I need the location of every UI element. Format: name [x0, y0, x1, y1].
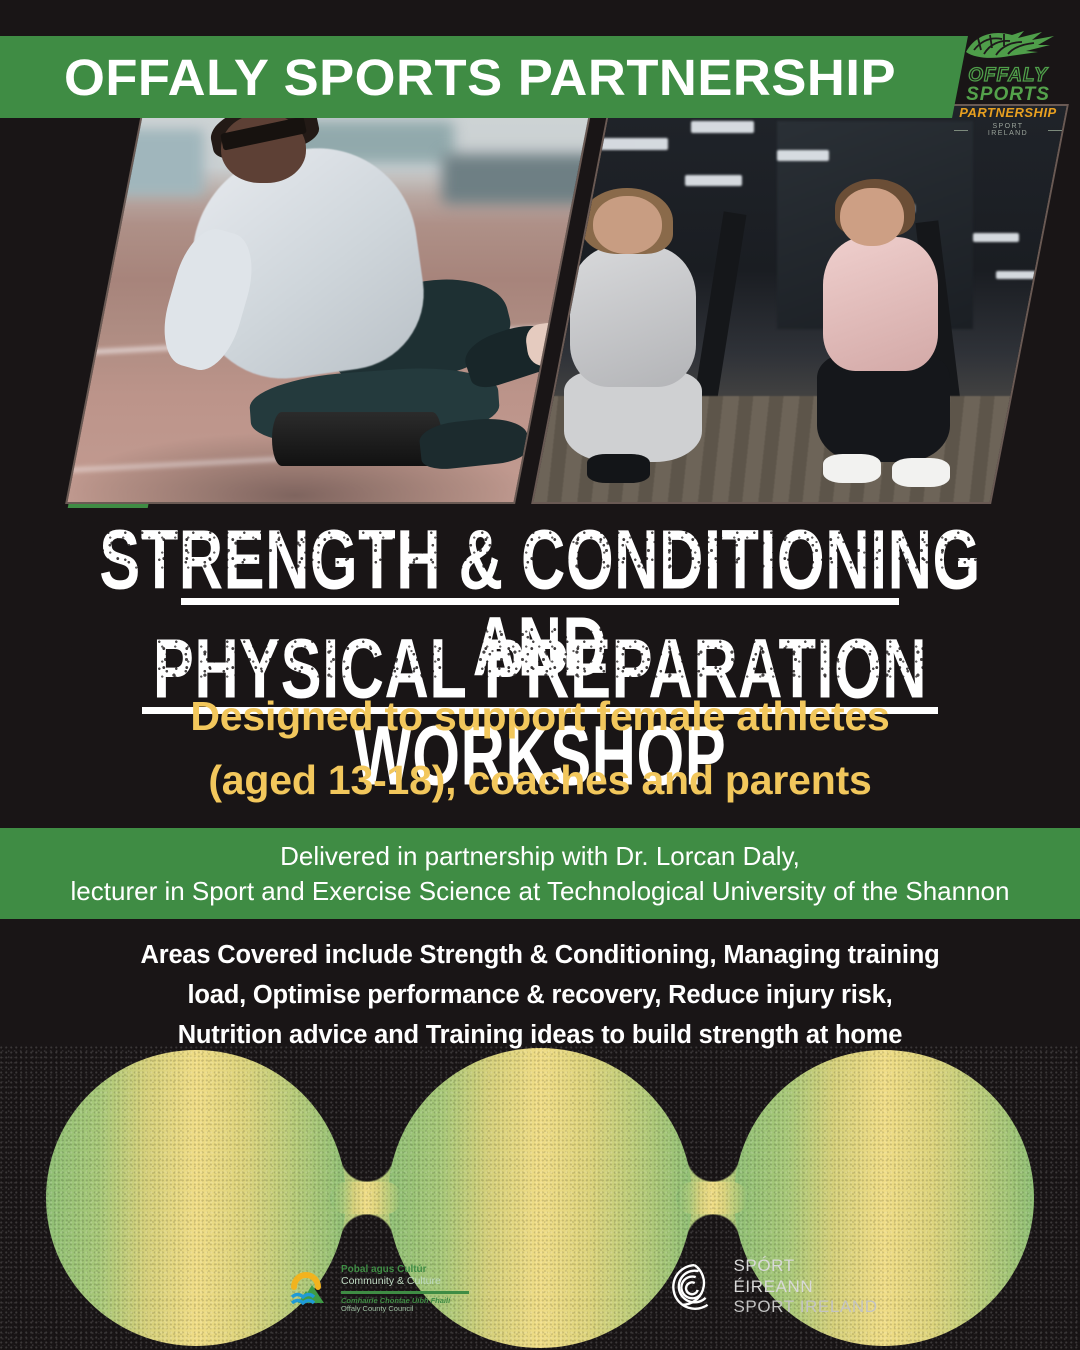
council-mark-icon	[288, 1267, 332, 1311]
areas-line-2: load, Optimise performance & recovery, R…	[0, 975, 1080, 1015]
poster-canvas: OFFALY SPORTS PARTNERSHIP OFFALY SPORTS	[0, 0, 1080, 1350]
photo-strip	[0, 104, 1080, 504]
logo-text-partnership: PARTNERSHIP	[954, 105, 1062, 120]
logo-swoosh-icon	[954, 26, 1062, 66]
sport-ireland-text-irish: SPÓRT ÉIREANN	[733, 1256, 878, 1297]
subtitle-line-2: (aged 13-18), coaches and parents	[0, 748, 1080, 812]
partnership-line-1: Delivered in partnership with Dr. Lorcan…	[280, 839, 800, 874]
photo-gym-squats	[531, 104, 1069, 504]
subtitle-line-1: Designed to support female athletes	[0, 684, 1080, 748]
council-text-irish-1: Pobal agus Cultúr	[341, 1264, 469, 1275]
workshop-audience-subtitle: Designed to support female athletes (age…	[0, 684, 1080, 812]
photo-foam-rolling	[65, 104, 593, 504]
sport-ireland-text-english: SPORT IRELAND	[733, 1297, 878, 1318]
areas-line-1: Areas Covered include Strength & Conditi…	[0, 935, 1080, 975]
sport-ireland-logo: SPÓRT ÉIREANN SPORT IRELAND	[668, 1256, 878, 1318]
logo-text-offaly: OFFALY	[954, 66, 1062, 85]
partnership-band: Delivered in partnership with Dr. Lorcan…	[0, 828, 1080, 919]
council-sun-hill-water-icon	[288, 1267, 332, 1311]
areas-covered: Areas Covered include Strength & Conditi…	[0, 935, 1080, 1055]
offaly-county-council-logo: Pobal agus Cultúr Community & Culture Co…	[288, 1252, 488, 1326]
logo-text-sport-ireland: SPORT IRELAND	[954, 123, 1062, 137]
offaly-sports-partnership-logo: OFFALY SPORTS PARTNERSHIP SPORT IRELAND	[954, 26, 1062, 136]
swoosh-graphic-icon	[954, 26, 1062, 66]
blob-shape-graphic	[0, 1046, 1080, 1350]
session-blobs	[0, 1046, 1080, 1350]
sport-ireland-spiral-icon	[668, 1260, 721, 1314]
council-text-english-2: Offaly County Council	[341, 1305, 469, 1313]
page-title: OFFALY SPORTS PARTNERSHIP	[0, 36, 974, 118]
council-text-english-1: Community & Culture	[341, 1276, 469, 1288]
areas-line-3: Nutrition advice and Training ideas to b…	[0, 1015, 1080, 1055]
logo-text-sports: SPORTS	[954, 85, 1062, 105]
partnership-line-2: lecturer in Sport and Exercise Science a…	[71, 874, 1010, 909]
council-divider	[341, 1291, 469, 1294]
